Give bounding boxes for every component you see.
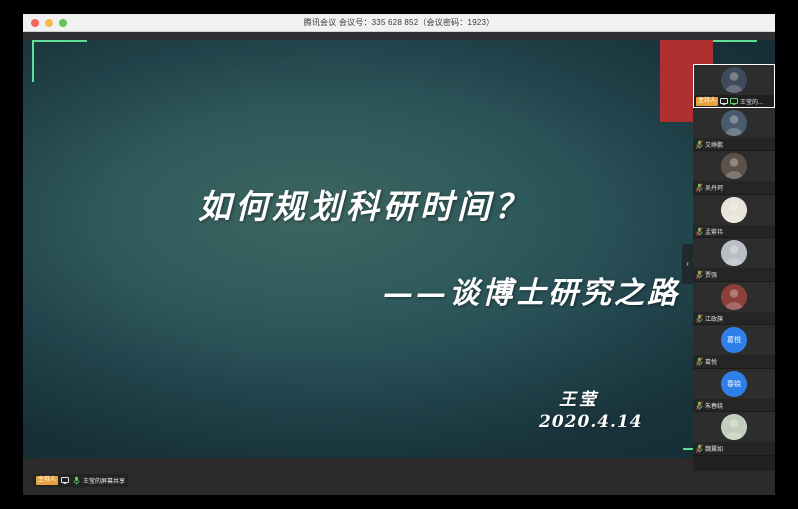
participant-info-bar: 贾强 [693, 268, 775, 281]
participant-info-bar: 吴丹珂 [693, 181, 775, 194]
share-area-bottom-strip [23, 458, 775, 495]
participant-tile[interactable]: 艾峥鹏 [693, 108, 775, 152]
microphone-muted-icon [695, 227, 703, 236]
participant-name: 魏翼如 [705, 444, 723, 453]
participant-tile[interactable]: 魏翼如 [693, 412, 775, 456]
participant-video [693, 412, 775, 442]
participant-video [693, 195, 775, 225]
participant-tile[interactable]: 春娆 朱春娆 [693, 369, 775, 413]
window-titlebar: 腾讯会议 会议号：335 628 852（会议密码：1923） [23, 14, 775, 32]
minimize-window-button[interactable] [45, 19, 53, 27]
avatar [721, 110, 747, 136]
participant-info-bar: 朱春娆 [693, 399, 775, 412]
screen-share-label: 王莹的屏幕共享 [83, 476, 125, 485]
participant-tile[interactable]: 葛悦 葛悦 [693, 325, 775, 369]
close-window-button[interactable] [31, 19, 39, 27]
microphone-muted-icon [695, 140, 703, 149]
participant-video [694, 65, 774, 95]
avatar [721, 197, 747, 223]
window-title: 腾讯会议 会议号：335 628 852（会议密码：1923） [23, 17, 775, 28]
participant-tile[interactable]: 江政旗 [693, 282, 775, 326]
participant-video: 葛悦 [693, 325, 775, 355]
avatar [721, 240, 747, 266]
host-badge: 主持人 [36, 476, 58, 485]
participant-tile[interactable]: 贾强 [693, 238, 775, 282]
participant-video [693, 238, 775, 268]
screen-share-icon [61, 476, 69, 485]
zoom-window-button[interactable] [59, 19, 67, 27]
participant-info-bar: 孟繁祎 [693, 225, 775, 238]
screen-share-status-bar: 主持人 王莹的屏幕共享 [33, 474, 128, 487]
participant-video [693, 282, 775, 312]
participant-info-bar: 江政旗 [693, 312, 775, 325]
participant-name: 艾峥鹏 [705, 140, 723, 149]
microphone-muted-icon [695, 183, 703, 192]
microphone-muted-icon [695, 314, 703, 323]
slide-decoration-top-left-bracket [32, 40, 87, 82]
participant-tile[interactable]: 孟繁祎 [693, 195, 775, 239]
avatar [721, 153, 747, 179]
participant-name: 王莹的... [740, 97, 763, 106]
window-controls [31, 19, 67, 27]
participant-info-bar: 魏翼如 [693, 442, 775, 455]
microphone-muted-icon [695, 357, 703, 366]
presentation-slide: 如何规划科研时间？ ——谈博士研究之路 王莹 2020.4.14 [23, 40, 775, 458]
avatar: 春娆 [721, 371, 747, 397]
slide-date: 2020.4.14 [539, 412, 643, 432]
screen-share-icon [720, 97, 728, 106]
collapse-filmstrip-button[interactable]: › [682, 244, 693, 284]
avatar [721, 284, 747, 310]
avatar: 葛悦 [721, 327, 747, 353]
slide-title: 如何规划科研时间？ [198, 180, 531, 228]
participant-name: 葛悦 [705, 357, 717, 366]
participant-name: 贾强 [705, 270, 717, 279]
microphone-muted-icon [730, 97, 738, 106]
avatar [721, 67, 747, 93]
participant-name: 吴丹珂 [705, 183, 723, 192]
participant-filmstrip[interactable]: 主持人 王莹的... 艾峥鹏 吴丹珂 孟繁祎 贾强 [693, 64, 775, 471]
participant-video [693, 151, 775, 181]
microphone-muted-icon [695, 270, 703, 279]
participant-info-bar: 艾峥鹏 [693, 138, 775, 151]
microphone-muted-icon [695, 444, 703, 453]
host-badge: 主持人 [696, 97, 718, 106]
slide-subtitle: ——谈博士研究之路 [383, 268, 680, 312]
tencent-meeting-window: 腾讯会议 会议号：335 628 852（会议密码：1923） 如何规划科研时间… [23, 14, 775, 495]
participant-video: 春娆 [693, 369, 775, 399]
microphone-muted-icon [72, 476, 80, 485]
shared-screen-area: 如何规划科研时间？ ——谈博士研究之路 王莹 2020.4.14 › 主持人 王… [23, 32, 775, 495]
participant-name: 江政旗 [705, 314, 723, 323]
slide-author: 王莹 [559, 385, 599, 410]
participant-name: 孟繁祎 [705, 227, 723, 236]
participant-info-bar: 主持人 王莹的... [694, 95, 774, 108]
participant-info-bar: 葛悦 [693, 355, 775, 368]
desktop-background: 腾讯会议 会议号：335 628 852（会议密码：1923） 如何规划科研时间… [0, 0, 798, 509]
microphone-muted-icon [695, 401, 703, 410]
participant-tile[interactable]: 主持人 王莹的... [693, 64, 775, 108]
participant-tile[interactable]: 吴丹珂 [693, 151, 775, 195]
participant-video [693, 108, 775, 138]
avatar [721, 414, 747, 440]
participant-name: 朱春娆 [705, 401, 723, 410]
